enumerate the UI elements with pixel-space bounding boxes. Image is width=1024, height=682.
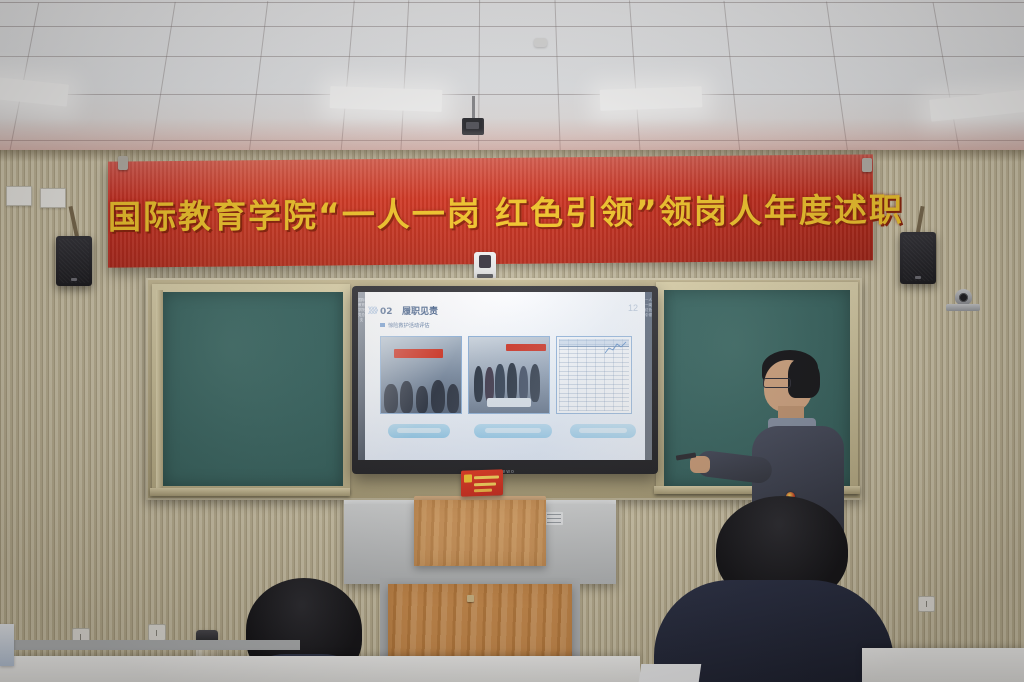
ceiling-camera-icon <box>462 118 484 135</box>
wall-outlet[interactable] <box>148 624 166 641</box>
console-lower-cabinet[interactable] <box>388 584 572 662</box>
slide-section-number: 02 <box>380 307 393 317</box>
slide-pill-button <box>388 424 450 438</box>
event-banner: 国际教育学院“一人一岗 红色引领”领岗人年度述职 <box>108 154 873 267</box>
slide-photo-meeting-room <box>380 336 462 414</box>
red-nameplate <box>461 469 503 496</box>
ceiling <box>0 0 1024 158</box>
slide-right-ribbon: 一人一岗红色引领 <box>645 292 652 460</box>
banner-text: 国际教育学院“一人一岗 红色引领”领岗人年度述职 <box>108 183 873 238</box>
banner-clip <box>862 158 872 172</box>
lectern-front-panel <box>414 500 546 566</box>
party-emblem-icon <box>464 474 472 482</box>
console-label-plate <box>545 512 563 525</box>
wall-placard <box>6 186 32 206</box>
ptz-camera-icon <box>946 289 980 311</box>
slide-photo-first-aid-training <box>468 336 550 414</box>
chalk-tray <box>150 488 350 496</box>
slide-title-text: 履职见责 <box>402 307 438 317</box>
ceiling-light-panel <box>600 86 703 111</box>
classroom-scene: 国际教育学院“一人一岗 红色引领”领岗人年度述职 国际教育学院党总支 一人一岗红… <box>0 0 1024 682</box>
smart-panel-display[interactable]: 国际教育学院党总支 一人一岗红色引领 》》》 02 履职见责 12 惊险救护活动… <box>358 292 652 460</box>
presenter-hand <box>690 456 710 473</box>
presenter-glasses-icon <box>763 378 791 388</box>
left-edge-poster <box>0 624 14 666</box>
slide-photo-evaluation-table <box>556 336 632 414</box>
cabinet-knob-icon[interactable] <box>467 595 474 602</box>
wall-speaker-left <box>56 236 92 286</box>
presenter-hair-side <box>788 358 820 398</box>
slide-subtitle: 惊险救护活动评估 <box>388 322 430 329</box>
chalkboard-slide-rail[interactable] <box>156 290 163 488</box>
wall-outlet[interactable] <box>918 596 935 612</box>
front-table <box>0 656 640 682</box>
slide-page-number: 12 <box>628 303 638 313</box>
ceiling-light-panel <box>0 75 69 106</box>
audience-member-man <box>648 496 896 682</box>
paper-document <box>639 664 702 682</box>
banner-clip <box>118 156 128 170</box>
interactive-smart-panel[interactable]: 国际教育学院党总支 一人一岗红色引领 》》》 02 履职见责 12 惊险救护活动… <box>352 286 658 474</box>
slide-bullet-marker <box>380 323 385 327</box>
slide-ribbon-text: 一人一岗红色引领 <box>645 292 652 318</box>
sparkline-icon <box>605 341 627 355</box>
chalkboard-left-panel <box>163 292 343 486</box>
slide-left-ribbon: 国际教育学院党总支 <box>358 292 365 460</box>
smoke-detector-icon <box>534 38 547 47</box>
slide-title: 02 履职见责 <box>380 304 438 317</box>
slide-ribbon-text: 国际教育学院党总支 <box>358 292 365 323</box>
wall-placard <box>40 188 66 208</box>
table-back-edge <box>0 640 300 650</box>
front-table-right <box>862 648 1024 682</box>
slide-pill-button <box>570 424 636 438</box>
slide-pill-button <box>474 424 552 438</box>
ceiling-light-panel <box>330 86 443 112</box>
wall-speaker-right <box>900 232 936 284</box>
